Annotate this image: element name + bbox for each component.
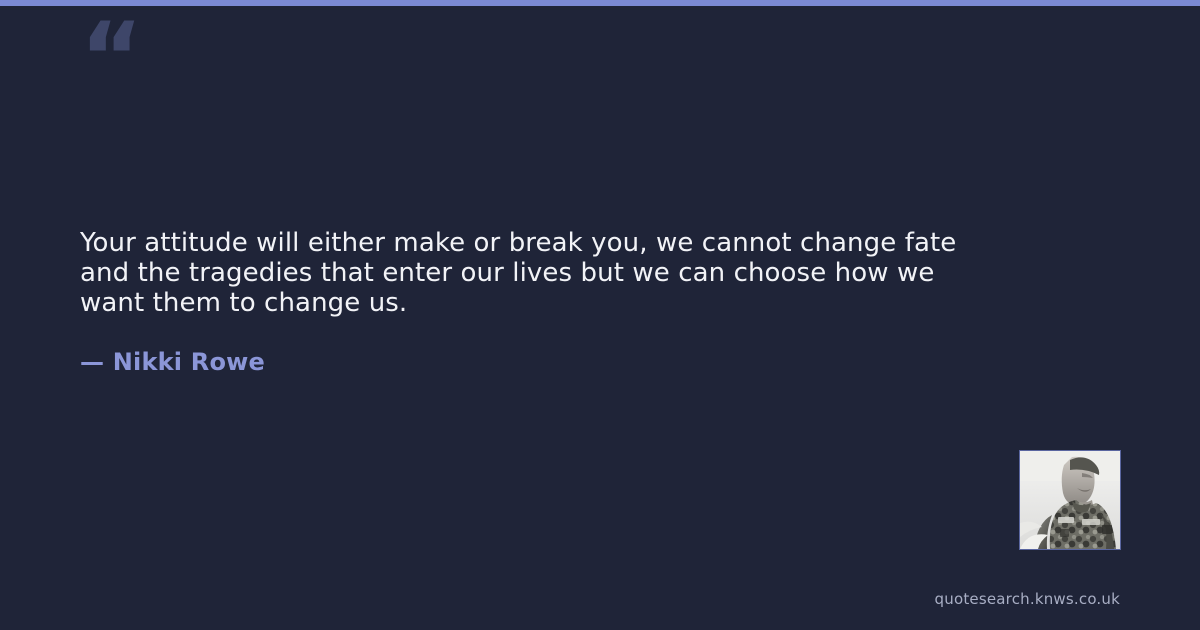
opening-quote-icon: “ xyxy=(80,10,141,106)
author-photo-thumbnail xyxy=(1020,451,1120,549)
quote-card: “ Your attitude will either make or brea… xyxy=(0,0,1200,630)
quote-author: — Nikki Rowe xyxy=(80,318,1020,376)
top-accent-bar xyxy=(0,0,1200,6)
quote-block: Your attitude will either make or break … xyxy=(80,228,1020,376)
soldier-portrait-image xyxy=(1020,451,1120,549)
source-url[interactable]: quotesearch.knws.co.uk xyxy=(935,590,1120,608)
quote-text: Your attitude will either make or break … xyxy=(80,228,980,318)
